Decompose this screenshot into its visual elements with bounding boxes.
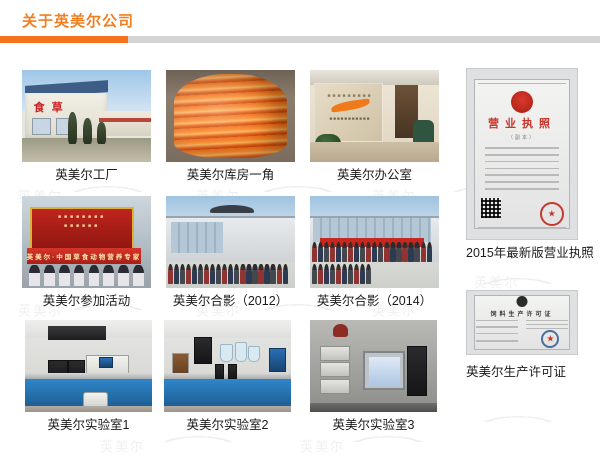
gallery-item-business-license[interactable]: 营业执照 （副本） 2015年最新版营业执照 xyxy=(466,68,578,261)
photo-laboratory-chromatography-pc[interactable] xyxy=(310,320,437,412)
qr-code xyxy=(481,198,501,218)
gallery-item-lab-2[interactable]: 英美尔实验室2 xyxy=(164,320,291,433)
caption-group-2012: 英美尔合影（2012） xyxy=(166,294,295,309)
photo-staff-group-photo-2012[interactable] xyxy=(166,196,295,288)
photo-company-event-red-banner[interactable]: ■■■■■■■■■■■■■■ 英美尔·中国草食动物营养专家 xyxy=(22,196,151,288)
header-divider-accent xyxy=(0,36,128,43)
factory-sign-text: 食草 xyxy=(34,99,70,115)
caption-factory: 英美尔工厂 xyxy=(22,168,151,183)
caption-lab-1: 英美尔实验室1 xyxy=(25,418,152,433)
caption-event: 英美尔参加活动 xyxy=(22,294,151,309)
photo-office-reception-logo-wall[interactable]: ■■■■■■■■■ ■■■■■■■■■■■ xyxy=(310,70,439,162)
gallery-item-lab-3[interactable]: 英美尔实验室3 xyxy=(310,320,437,433)
caption-business-license: 2015年最新版营业执照 xyxy=(466,246,578,261)
gallery-item-office[interactable]: ■■■■■■■■■ ■■■■■■■■■■■ 英美尔办公室 xyxy=(310,70,439,183)
photo-production-permit-certificate[interactable]: 饲料生产许可证 xyxy=(466,290,578,355)
official-seal-stamp xyxy=(540,202,564,226)
gallery-item-event[interactable]: ■■■■■■■■■■■■■■ 英美尔·中国草食动物营养专家 英美尔参加活动 xyxy=(22,196,151,309)
gallery-item-warehouse[interactable]: 英美尔库房一角 xyxy=(166,70,295,183)
gallery-item-group-2014[interactable]: 英美尔合影（2014） xyxy=(310,196,439,309)
caption-lab-3: 英美尔实验室3 xyxy=(310,418,437,433)
photo-laboratory-instrument-room[interactable] xyxy=(25,320,152,412)
caption-group-2014: 英美尔合影（2014） xyxy=(310,294,439,309)
photo-company-factory-exterior[interactable]: 食草 xyxy=(22,70,151,162)
header-divider xyxy=(0,36,600,43)
permit-emblem-icon xyxy=(517,296,528,307)
gallery-item-group-2012[interactable]: 英美尔合影（2012） xyxy=(166,196,295,309)
page-title: 关于英美尔公司 xyxy=(22,13,134,31)
page-header: 关于英美尔公司 xyxy=(0,0,600,48)
photo-laboratory-glassware-room[interactable] xyxy=(164,320,291,412)
caption-production-permit: 英美尔生产许可证 xyxy=(466,365,578,380)
caption-warehouse: 英美尔库房一角 xyxy=(166,168,295,183)
gallery-item-factory[interactable]: 食草 英美尔工厂 xyxy=(22,70,151,183)
photo-warehouse-stacked-feed-bags[interactable] xyxy=(166,70,295,162)
gallery-item-production-permit[interactable]: 饲料生产许可证 英美尔生产许可证 xyxy=(466,290,578,380)
photo-gallery: 食草 英美尔工厂 英美尔库房一角 ■■■■■■■■■ ■■■■■■■■■■■ xyxy=(0,0,600,469)
national-emblem-icon xyxy=(511,91,533,113)
photo-business-license-certificate[interactable]: 营业执照 （副本） xyxy=(466,68,578,240)
gallery-item-lab-1[interactable]: 英美尔实验室1 xyxy=(25,320,152,433)
photo-staff-group-photo-2014[interactable] xyxy=(310,196,439,288)
caption-office: 英美尔办公室 xyxy=(310,168,439,183)
caption-lab-2: 英美尔实验室2 xyxy=(164,418,291,433)
